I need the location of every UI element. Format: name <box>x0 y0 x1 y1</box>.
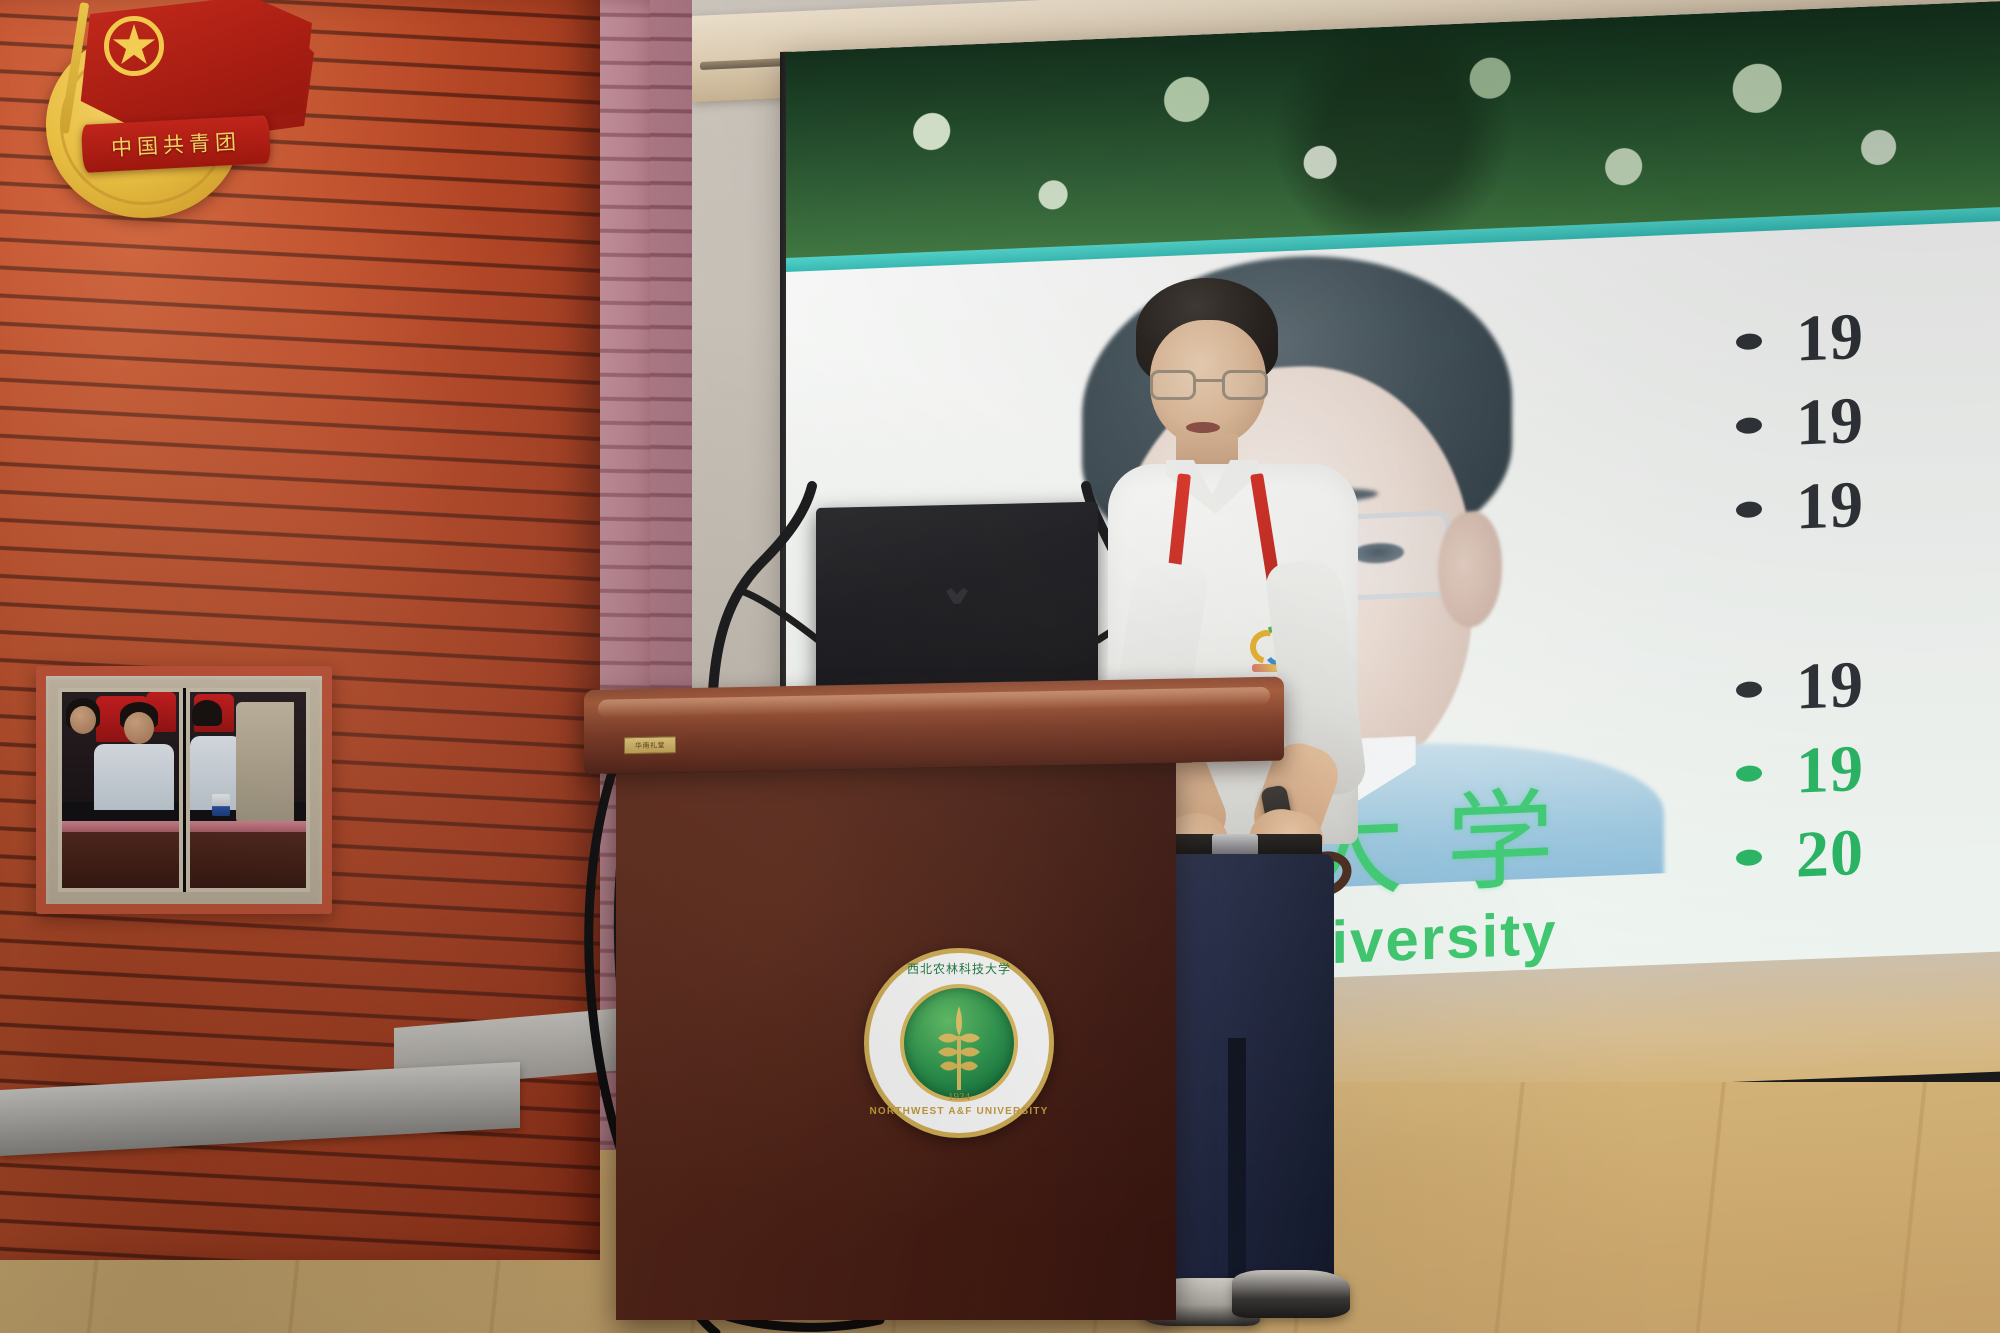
audience-desk <box>62 821 179 888</box>
laptop[interactable] <box>816 502 1098 706</box>
desk-top-edge <box>190 821 307 832</box>
slide-bullet-row: 19 <box>1736 637 2000 732</box>
window-panes <box>58 688 310 892</box>
lecture-hall-photo: 191919191920 农业大学 cultural University 中国… <box>0 0 2000 1333</box>
lectern-nameplate-text: 华南礼堂 <box>635 740 665 751</box>
crest-english-name: NORTHWEST A&F UNIVERSITY <box>869 1106 1049 1117</box>
presenter-lens-right <box>1222 370 1268 400</box>
audience-person-shirt <box>94 744 174 810</box>
lectern-top-rail: 华南礼堂 <box>584 677 1284 774</box>
slide-bullet-row: 19 <box>1736 457 2000 552</box>
slide-bullet-year: 19 <box>1796 299 1864 378</box>
youth-league-emblem: 中国共青团 <box>22 0 332 234</box>
laptop-logo-icon <box>946 588 968 604</box>
presenter-lens-left <box>1150 370 1196 400</box>
emblem-banner-text: 中国共青团 <box>110 126 241 163</box>
window-curtain <box>236 702 294 824</box>
crest-founding-year: 1934 <box>869 1091 1049 1103</box>
window-pane-left <box>58 688 183 892</box>
presenter-glasses <box>1150 370 1268 404</box>
slide-bullet-year: 19 <box>1796 467 1864 546</box>
presenter-glasses-bridge <box>1196 379 1222 382</box>
crest-chinese-name: 西北农林科技大学 <box>869 960 1049 977</box>
presenter-leg-seam <box>1228 1038 1246 1306</box>
window-pane-right <box>186 688 311 892</box>
presenter-shoe-right <box>1232 1270 1350 1318</box>
slide-bullet-dot-icon <box>1736 417 1762 434</box>
slide-bullet-row: 19 <box>1736 289 2000 384</box>
lectern-nameplate: 华南礼堂 <box>624 736 676 754</box>
desk-top-edge <box>62 821 179 832</box>
slide-bullet-year: 19 <box>1796 383 1864 462</box>
emblem-banner: 中国共青团 <box>81 115 271 173</box>
slide-bullet-dot-icon <box>1736 501 1762 518</box>
person-hair <box>192 700 222 726</box>
crest-green-disc <box>900 984 1018 1102</box>
slide-bullet-year: 19 <box>1796 647 1864 726</box>
person-head <box>124 712 154 744</box>
university-crest: 西北农林科技大学 1934 NORTHWEST A&F UNIVERSITY <box>864 948 1054 1138</box>
wheat-ears-icon <box>932 1002 986 1094</box>
slide-bullet-dot-icon <box>1736 681 1762 698</box>
service-window[interactable] <box>36 666 332 914</box>
presenter-mouth <box>1186 422 1220 433</box>
lectern-gloss-highlight <box>598 687 1270 718</box>
portrait-ear <box>1438 510 1502 629</box>
paper-cup <box>212 794 230 816</box>
person-head <box>70 706 96 734</box>
slide-bullet-row: 19 <box>1736 373 2000 468</box>
audience-desk <box>190 821 307 888</box>
slide-bullet-dot-icon <box>1736 333 1762 350</box>
